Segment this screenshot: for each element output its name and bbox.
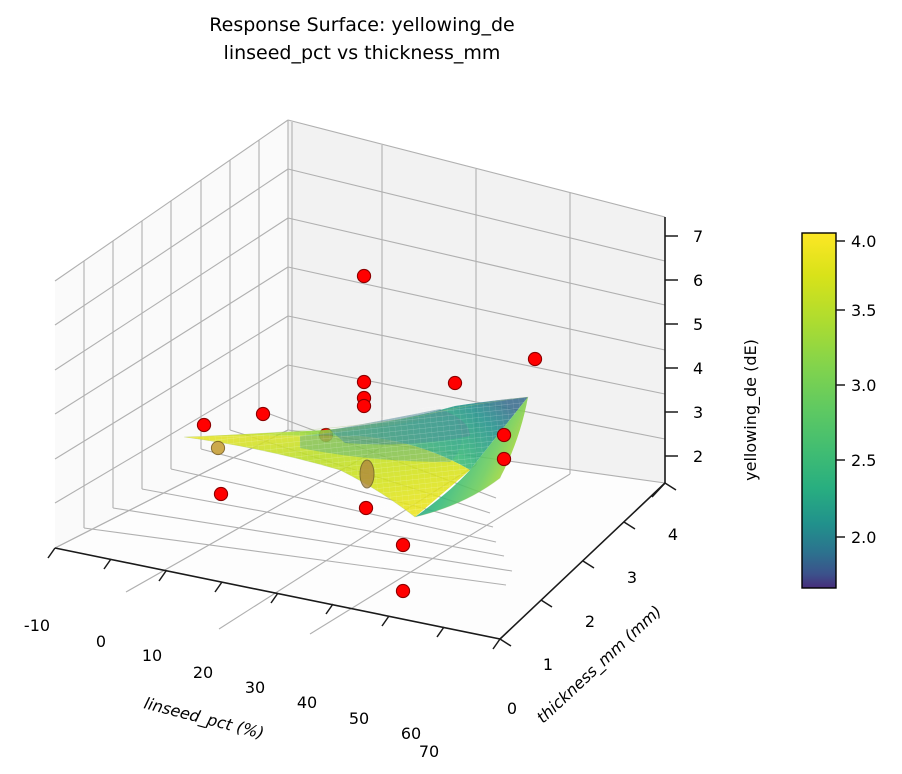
scatter-point (396, 538, 409, 551)
y-tick-label: 3 (627, 568, 637, 587)
scatter-point (357, 375, 370, 388)
y-tick-label: 2 (585, 612, 595, 631)
scatter-point (256, 407, 269, 420)
scatter-point (197, 418, 210, 431)
scatter-point (357, 399, 370, 412)
z-tick-label: 2 (693, 447, 703, 466)
x-tick-label: 0 (96, 632, 106, 651)
colorbar-tick-label: 3.5 (851, 301, 876, 320)
colorbar-tick-label: 4.0 (851, 232, 876, 251)
z-tick-label: 5 (693, 315, 703, 334)
scatter-point (448, 376, 461, 389)
x-tick-label: 30 (245, 678, 265, 697)
figure-canvas: Response Surface: yellowing_de linseed_p… (0, 0, 902, 774)
z-axis: 2 3 4 5 6 7 (665, 227, 703, 466)
x-tick-label: 60 (401, 724, 421, 743)
scatter-point (396, 584, 409, 597)
colorbar[interactable]: 4.0 3.5 3.0 2.5 2.0 yellowing_de (dE) (741, 232, 876, 588)
figure-title: Response Surface: yellowing_de linseed_p… (209, 14, 514, 64)
x-tick-label: 10 (142, 646, 162, 665)
x-tick-label: -10 (24, 616, 50, 635)
scatter-point (528, 352, 541, 365)
colorbar-tick-label: 3.0 (851, 376, 876, 395)
x-tick-label: 20 (193, 663, 213, 682)
scatter-point-occluded (211, 441, 224, 454)
scatter-point (497, 452, 510, 465)
scatter-point-occluded (360, 460, 374, 488)
scatter-point (357, 269, 370, 282)
colorbar-gradient[interactable] (802, 233, 836, 588)
z-tick-label: 4 (693, 359, 703, 378)
x-axis-label: linseed_pct (%) (142, 693, 266, 743)
colorbar-tick-label: 2.0 (851, 528, 876, 547)
title-line-2: linseed_pct vs thickness_mm (224, 42, 501, 64)
x-tick-label: 50 (349, 709, 369, 728)
title-line-1: Response Surface: yellowing_de (209, 14, 514, 36)
z-tickmarks (665, 236, 678, 456)
scatter-point (497, 428, 510, 441)
colorbar-tickmarks (836, 241, 845, 537)
y-tick-label: 4 (668, 525, 678, 544)
z-tick-label: 3 (693, 403, 703, 422)
y-tick-label: 0 (507, 699, 517, 718)
colorbar-label: yellowing_de (dE) (741, 339, 761, 481)
colorbar-tick-label: 2.5 (851, 451, 876, 470)
x-tick-label: 40 (297, 693, 317, 712)
scatter-point (214, 487, 227, 500)
z-tick-label: 7 (693, 227, 703, 246)
y-tick-label: 1 (543, 655, 553, 674)
scatter-point (359, 501, 372, 514)
z-tick-label: 6 (693, 271, 703, 290)
x-tick-label: 70 (419, 742, 439, 761)
